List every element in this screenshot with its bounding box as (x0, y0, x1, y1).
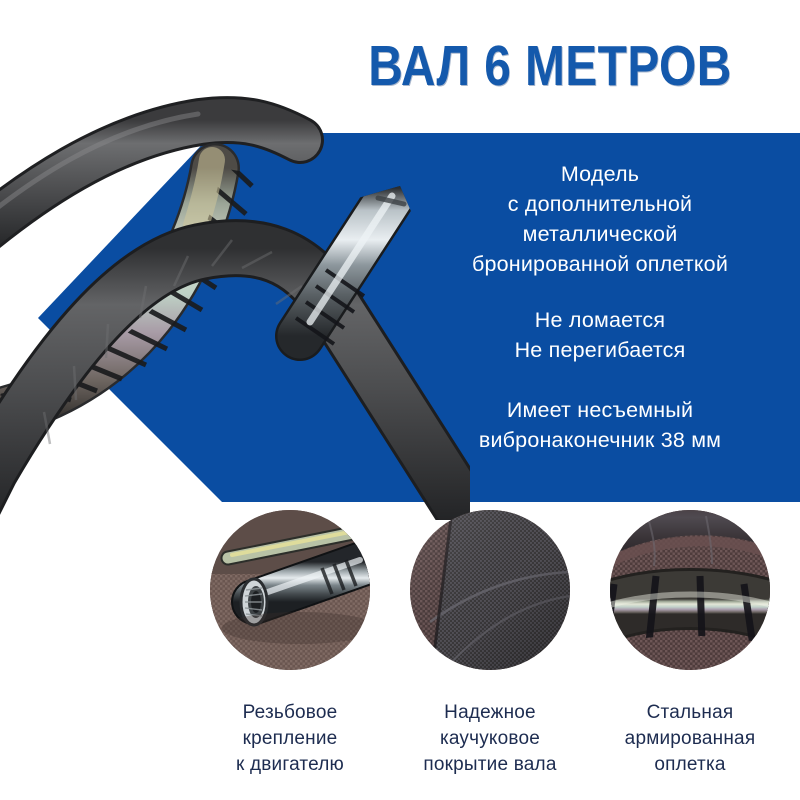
main-product-photo (0, 0, 470, 520)
caption-line: каучуковое (390, 726, 590, 752)
feature-caption-row: Резьбовое крепление к двигателю Надежное… (0, 700, 800, 800)
caption-line: к двигателю (190, 752, 390, 778)
threaded-coupling-photo (210, 510, 370, 670)
feature-thumb-steel-braid[interactable] (610, 510, 770, 670)
feature-thumb-threaded-mount[interactable] (210, 510, 370, 670)
feature-thumbnail-row (0, 505, 800, 695)
rubber-weave-photo (410, 510, 570, 670)
feature-caption-steel-braid: Стальная армированная оплетка (590, 700, 790, 778)
caption-line: Стальная (590, 700, 790, 726)
caption-line: армированная (590, 726, 790, 752)
caption-line: крепление (190, 726, 390, 752)
caption-line: покрытие вала (390, 752, 590, 778)
product-infographic: ВАЛ 6 МЕТРОВ Модель с дополнительной мет… (0, 0, 800, 800)
feature-caption-threaded-mount: Резьбовое крепление к двигателю (190, 700, 390, 778)
feature-thumb-rubber-cover[interactable] (410, 510, 570, 670)
caption-line: Надежное (390, 700, 590, 726)
caption-line: Резьбовое (190, 700, 390, 726)
caption-line: оплетка (590, 752, 790, 778)
feature-caption-rubber-cover: Надежное каучуковое покрытие вала (390, 700, 590, 778)
steel-braid-photo (610, 510, 770, 670)
